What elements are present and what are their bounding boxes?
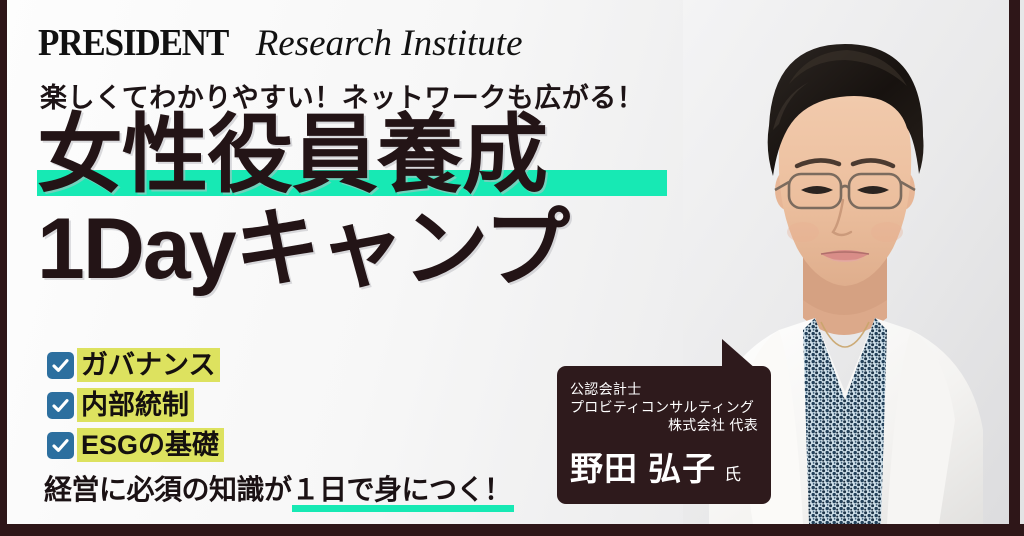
checkbox-checked-icon [47, 432, 74, 459]
checklist-item: ESGの基礎 [47, 428, 224, 462]
brand-name-italic: Research Institute [256, 23, 523, 64]
frame-bar-left [0, 0, 7, 536]
speaker-name: 野田 弘子 [570, 450, 716, 487]
checklist-item-label: ガバナンス [77, 348, 220, 382]
headline-line-1-text: 女性役員養成 [37, 107, 547, 203]
headline-line-1: 女性役員養成 [37, 112, 568, 198]
speaker-callout: 公認会計士 プロビティコンサルティング 株式会社 代表 野田 弘子氏 [557, 366, 771, 504]
checklist-item-label: 内部統制 [77, 388, 194, 422]
tagline-underlined: １日で身につく！ [292, 468, 512, 509]
checklist-item-label: ESGの基礎 [77, 428, 224, 462]
headline-line-2: 1Dayキャンプ [37, 206, 568, 292]
checkbox-checked-icon [47, 352, 74, 379]
speaker-info: 公認会計士 プロビティコンサルティング 株式会社 代表 野田 弘子氏 [557, 366, 771, 504]
speaker-company-line-1: プロビティコンサルティング [570, 398, 758, 416]
promo-banner: PRESIDENTResearch Institute 楽しくてわかりやすい！ネ… [0, 0, 1024, 536]
brand-name-bold: PRESIDENT [38, 21, 228, 65]
speaker-name-row: 野田 弘子氏 [570, 442, 758, 490]
checkbox-checked-icon [47, 392, 74, 419]
tagline: 経営に必須の知識が１日で身につく！ [44, 468, 512, 509]
speaker-company-line-2: 株式会社 代表 [570, 416, 758, 434]
checklist-item: 内部統制 [47, 388, 224, 422]
feature-checklist: ガバナンス 内部統制 ESGの基礎 [47, 348, 224, 468]
frame-bar-bottom [0, 524, 1024, 536]
headline-line-2-text: 1Dayキャンプ [37, 201, 568, 297]
speaker-name-suffix: 氏 [724, 465, 741, 484]
tagline-lead: 経営に必須の知識が [44, 474, 292, 505]
headline-block: 女性役員養成 1Dayキャンプ [37, 112, 568, 292]
speech-bubble-tail-icon [722, 339, 756, 369]
checklist-item: ガバナンス [47, 348, 224, 382]
speaker-credential: 公認会計士 [570, 380, 758, 398]
brand-logo: PRESIDENTResearch Institute [38, 21, 523, 65]
frame-bar-right [1009, 0, 1020, 536]
